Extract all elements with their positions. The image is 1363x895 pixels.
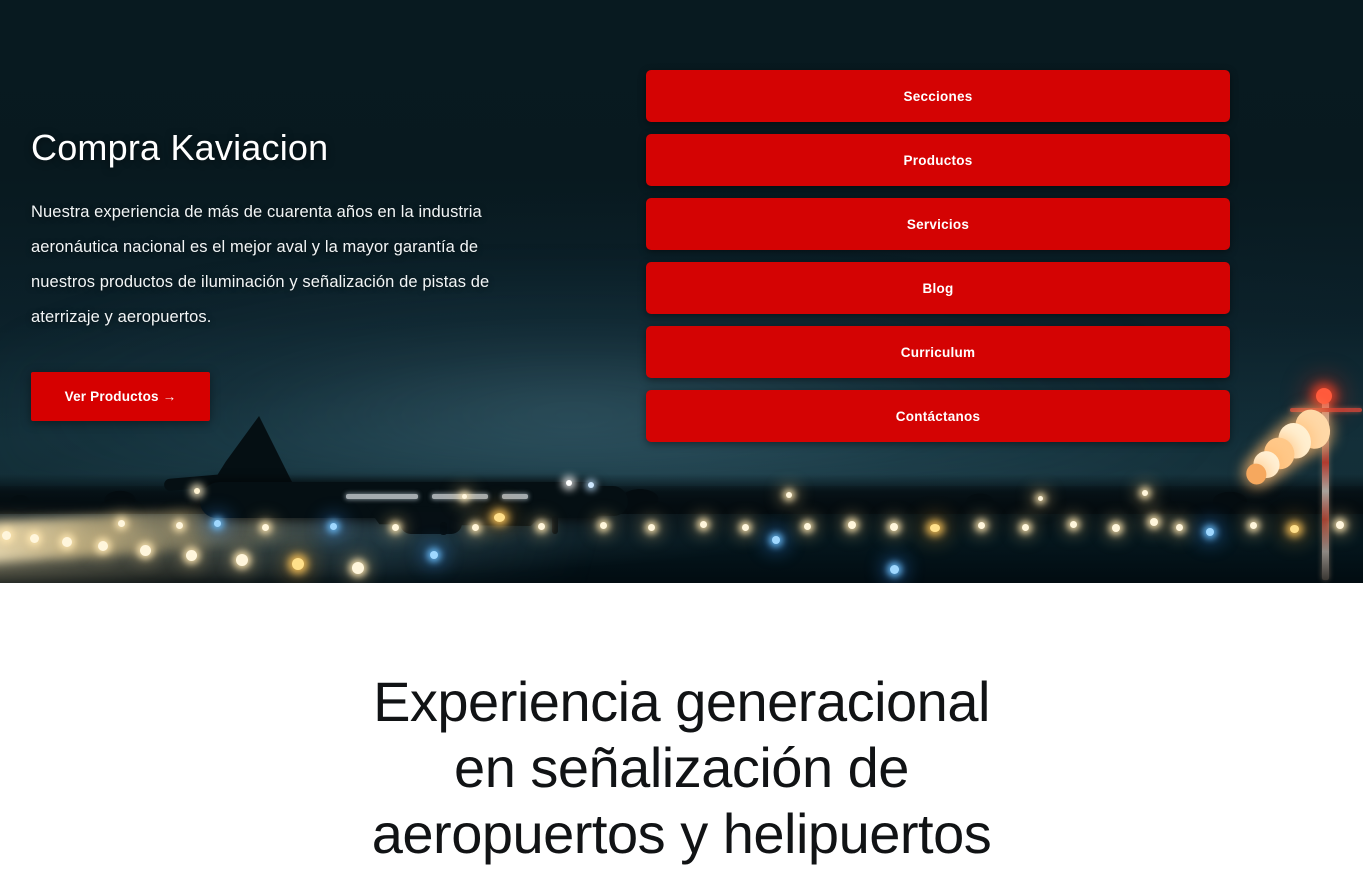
section-heading: Experiencia generacional en señalización… xyxy=(0,669,1363,867)
plane-nav-light xyxy=(588,482,594,488)
nav-button-productos[interactable]: Productos xyxy=(646,134,1230,186)
plane-main-gear xyxy=(440,522,447,535)
hero-nav-menu: Secciones Productos Servicios Blog Curri… xyxy=(646,70,1230,442)
airplane-silhouette xyxy=(150,400,670,535)
plane-nose xyxy=(568,486,628,516)
windsock-beacon-light-icon xyxy=(1316,388,1332,404)
plane-cabin-windows xyxy=(502,494,528,499)
plane-cabin-windows xyxy=(346,494,418,499)
plane-nose-gear xyxy=(552,516,558,534)
plane-engine xyxy=(400,512,462,534)
ver-productos-button[interactable]: Ver Productos → xyxy=(31,372,210,421)
section-heading-line-1: Experiencia generacional xyxy=(0,669,1363,735)
plane-cabin-windows xyxy=(432,494,488,499)
plane-nav-light xyxy=(566,480,572,486)
nav-button-curriculum[interactable]: Curriculum xyxy=(646,326,1230,378)
nav-button-contactanos[interactable]: Contáctanos xyxy=(646,390,1230,442)
section-heading-line-3: aeropuertos y helipuertos xyxy=(0,801,1363,867)
hero-section: Compra Kaviacion Nuestra experiencia de … xyxy=(0,0,1363,583)
hero-description: Nuestra experiencia de más de cuarenta a… xyxy=(31,195,511,335)
experience-section: Experiencia generacional en señalización… xyxy=(0,583,1363,895)
nav-button-servicios[interactable]: Servicios xyxy=(646,198,1230,250)
hero-copy: Compra Kaviacion Nuestra experiencia de … xyxy=(31,126,561,335)
section-heading-line-2: en señalización de xyxy=(0,735,1363,801)
plane-tail-light xyxy=(194,488,200,494)
windsock xyxy=(1238,366,1363,581)
page-title: Compra Kaviacion xyxy=(31,126,561,169)
nav-button-blog[interactable]: Blog xyxy=(646,262,1230,314)
nav-button-secciones[interactable]: Secciones xyxy=(646,70,1230,122)
